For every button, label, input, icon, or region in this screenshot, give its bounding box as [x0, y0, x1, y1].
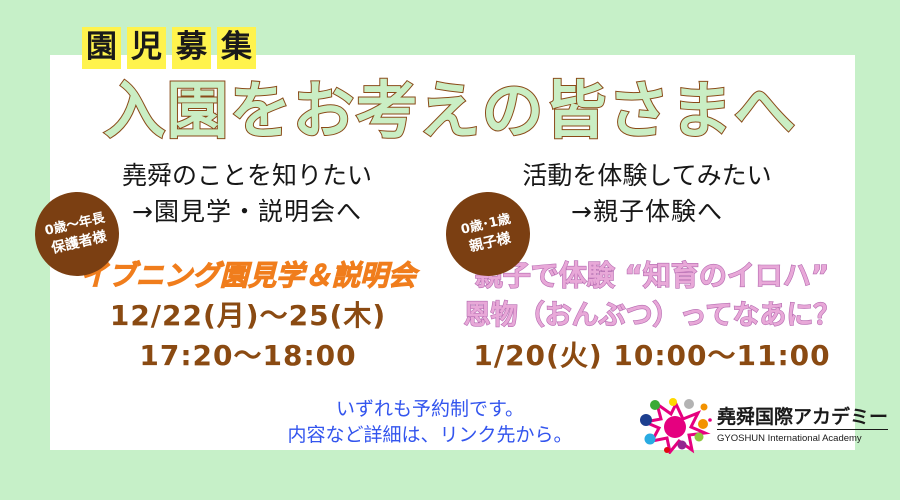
right-lead-line-1: 活動を体験してみたい: [462, 158, 832, 194]
logo-star-icon: [637, 398, 715, 454]
badge-char-2: 児: [127, 27, 166, 69]
recruitment-badge: 園 児 募 集: [82, 27, 256, 69]
school-logo: 堯舜国際アカデミー GYOSHUN International Academy: [637, 398, 852, 454]
left-lead-line-1: 堯舜のことを知りたい: [62, 158, 432, 194]
badge-char-1: 園: [82, 27, 121, 69]
poster-canvas: 園 児 募 集 入園をお考えの皆さまへ 堯舜のことを知りたい →園見学・説明会へ…: [0, 0, 900, 500]
event-block-right: 親子で体験 “知育のイロハ” 恩物（おんぶつ）ってなあに？ 1/20(火) 10…: [442, 256, 862, 376]
event-left-date: 12/22(月)～25(木): [38, 296, 458, 336]
left-column: 堯舜のことを知りたい →園見学・説明会へ: [62, 158, 432, 230]
badge-char-3: 募: [172, 27, 211, 69]
logo-name-en: GYOSHUN International Academy: [717, 432, 888, 446]
event-right-datetime: 1/20(火) 10:00～11:00: [442, 336, 862, 376]
logo-text-block: 堯舜国際アカデミー GYOSHUN International Academy: [717, 406, 888, 446]
page-title: 入園をお考えの皆さまへ: [0, 74, 900, 148]
note-line-1: いずれも予約制です。: [230, 396, 630, 422]
badge-char-4: 集: [217, 27, 256, 69]
reservation-note: いずれも予約制です。 内容など詳細は、リンク先から。: [230, 396, 630, 448]
logo-name-jp: 堯舜国際アカデミー: [717, 406, 888, 430]
event-right-subtitle: 恩物（おんぶつ）ってなあに？: [442, 296, 862, 336]
event-block-left: イブニング園見学＆説明会 12/22(月)～25(木) 17:20～18:00: [38, 256, 458, 376]
event-left-time: 17:20～18:00: [38, 336, 458, 376]
note-line-2: 内容など詳細は、リンク先から。: [230, 422, 630, 448]
